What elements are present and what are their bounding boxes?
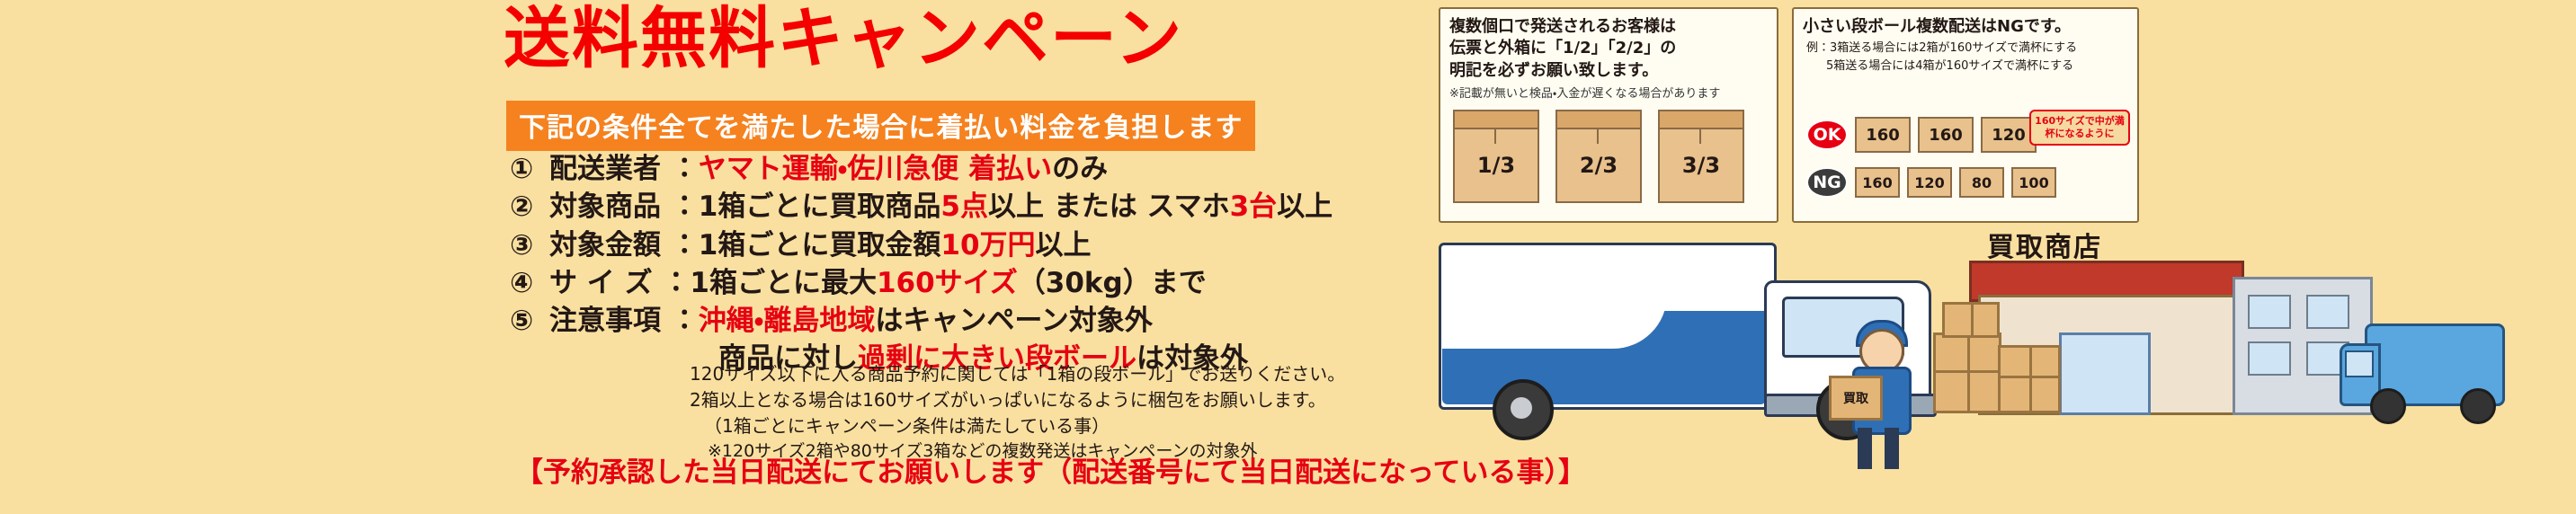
condition-part1-2: 1箱ごとに買取商品 (699, 189, 941, 225)
shop-sign-label: 買取商店 (1987, 225, 2102, 264)
panel-ng-examples: 例：3箱送る場合には2箱が160サイズで満杯にする 5箱送る場合には4箱が160… (1794, 38, 2137, 75)
condition-item-1: ① 配送業者 ： ヤマト運輸・佐川急便 着払い のみ (510, 151, 1333, 187)
size-box: 160 (1918, 117, 1974, 153)
condition-label-4: サ イ ズ ： (549, 265, 690, 301)
cardbox-body: 2/3 (1555, 128, 1642, 203)
condition-item-2: ② 対象商品 ： 1箱ごとに買取商品 5点 以上 または スマホ 3台 以上 (510, 189, 1333, 225)
conditions-list: ① 配送業者 ： ヤマト運輸・佐川急便 着払い のみ ② 対象商品 ： 1箱ごと… (510, 151, 1333, 379)
panel-ng-callout: 160サイズで中が満杯になるように (2029, 110, 2130, 146)
condition-part3-2: 以上 または スマホ (988, 189, 1230, 225)
cardbox-body: 1/3 (1453, 128, 1539, 203)
stacked-box (1998, 376, 2061, 413)
panel-ng-heading: 小さい段ボール複数配送はNGです。 (1794, 9, 2137, 38)
condition-label-3: 対象金額 ： (549, 227, 699, 263)
fineprint-line-2: 2箱以上となる場合は160サイズがいっぱいになるように梱包をお願いします。 (690, 387, 1345, 413)
stacked-box (1942, 302, 2000, 338)
condition-number-4: ④ (510, 265, 549, 301)
van-wheel-icon (2460, 388, 2496, 424)
panel-multiple-parcels: 複数個口で発送されるお客様は 伝票と外箱に「1/2」「2/2」の 明記を必ずお願… (1439, 7, 1778, 223)
cardbox-flap (1453, 110, 1539, 129)
truck-wheel-icon (1493, 379, 1554, 440)
condition-item-4: ④ サ イ ズ ： 1箱ごとに最大 160サイズ （30kg）まで (510, 265, 1333, 301)
shop-door (2059, 332, 2151, 415)
condition-item-3: ③ 対象金額 ： 1箱ごとに買取金額 10万円 以上 (510, 227, 1333, 263)
condition-part1-5: 沖縄・離島地域 (699, 303, 876, 339)
panel-ng-ok-row: OK 160 160 120 (1806, 117, 2037, 153)
cardbox-icon: 2/3 (1555, 110, 1642, 203)
condition-label-1: 配送業者 ： (549, 151, 699, 187)
condition-part3-3: 以上 (1036, 227, 1092, 263)
panel-ng-ng-row: NG 160 120 80 100 (1806, 167, 2056, 198)
panel-multi-line-3: 明記を必ずお願い致します。 (1449, 60, 1768, 82)
condition-label-2: 対象商品 ： (549, 189, 699, 225)
condition-number-2: ② (510, 189, 549, 225)
truck-stripe-curve (1442, 295, 1667, 349)
panel-multi-box-row: 1/3 2/3 3/3 (1453, 110, 1744, 203)
van-window (2345, 350, 2374, 377)
subtitle-bar: 下記の条件全てを満たした場合に着払い料金を負担します (506, 101, 1255, 151)
condition-number-1: ① (510, 151, 549, 187)
condition-number-5: ⑤ (510, 303, 549, 339)
size-box: 160 (1855, 117, 1911, 153)
cardbox-body: 3/3 (1658, 128, 1744, 203)
stacked-box (1933, 370, 2001, 413)
shop-window (2248, 341, 2291, 376)
size-box: 120 (1981, 117, 2037, 153)
bottom-notice: 【予約承認した当日配送にてお願いします（配送番号にて当日配送になっている事）】 (515, 449, 1586, 490)
condition-value-black-1: のみ (1052, 151, 1108, 187)
shop-window (2306, 295, 2349, 329)
panel-ng-small-boxes: 小さい段ボール複数配送はNGです。 例：3箱送る場合には2箱が160サイズで満杯… (1792, 7, 2139, 223)
panel-ng-example-2: 5箱送る場合には4箱が160サイズで満杯にする (1806, 58, 2128, 75)
cardbox-icon: 1/3 (1453, 110, 1539, 203)
condition-item-5: ⑤ 注意事項 ： 沖縄・離島地域 はキャンペーン対象外 (510, 303, 1333, 339)
cardbox-icon: 3/3 (1658, 110, 1744, 203)
stacked-box (1933, 332, 2001, 376)
size-box: 120 (1907, 167, 1952, 198)
ok-badge-icon: OK (1806, 120, 1848, 150)
van-wheel-icon (2370, 388, 2406, 424)
panel-multi-line-1: 複数個口で発送されるお客様は (1449, 16, 1768, 38)
panel-ng-example-1: 例：3箱送る場合には2箱が160サイズで満杯にする (1806, 40, 2128, 58)
worker-carried-box: 買取 (1829, 376, 1883, 421)
cardbox-seam (1494, 128, 1496, 144)
condition-part2-4: 160サイズ (877, 265, 1018, 301)
condition-part1-3: 1箱ごとに買取金額 (699, 227, 941, 263)
fineprint-line-1: 120サイズ以下に入る商品予約に関しては「1箱の段ボール」でお送りください。 (690, 361, 1345, 387)
banner-root: 送料無料キャンペーン 下記の条件全てを満たした場合に着払い料金を負担します ① … (0, 0, 2576, 514)
cardbox-label: 3/3 (1682, 153, 1720, 178)
worker-leg (1885, 428, 1899, 469)
cardbox-label: 1/3 (1477, 153, 1515, 178)
cardbox-flap (1555, 110, 1642, 129)
cardbox-label: 2/3 (1580, 153, 1618, 178)
condition-number-3: ③ (510, 227, 549, 263)
panel-multi-heading: 複数個口で発送されるお客様は 伝票と外箱に「1/2」「2/2」の 明記を必ずお願… (1440, 9, 1777, 82)
condition-part2-3: 10万円 (940, 227, 1035, 263)
condition-part3-4: （30kg）まで (1018, 265, 1207, 301)
fineprint-line-3: （1箱ごとにキャンペーン条件は満たしている事） (690, 413, 1345, 439)
page-title: 送料無料キャンペーン (504, 4, 1183, 75)
panel-multi-note: ※記載が無いと検品・入金が遅くなる場合があります (1440, 82, 1777, 101)
ng-badge-icon: NG (1806, 167, 1848, 198)
cardbox-seam (1699, 128, 1701, 144)
size-box: 80 (1959, 167, 2004, 198)
condition-value-red-1: ヤマト運輸・佐川急便 着払い (699, 151, 1052, 187)
size-box: 160 (1855, 167, 1900, 198)
panel-ng-heading-text: 小さい段ボール複数配送はNGです。 (1803, 16, 2128, 38)
condition-part1-4: 1箱ごとに最大 (690, 265, 877, 301)
condition-part4-2: 3台 (1230, 189, 1278, 225)
panel-multi-line-2: 伝票と外箱に「1/2」「2/2」の (1449, 38, 1768, 59)
condition-part2-2: 5点 (940, 189, 988, 225)
size-box: 100 (2011, 167, 2056, 198)
shop-window (2248, 295, 2291, 329)
cardbox-flap (1658, 110, 1744, 129)
condition-label-5: 注意事項 ： (549, 303, 699, 339)
worker-leg (1858, 428, 1872, 469)
condition-part2-5: はキャンペーン対象外 (875, 303, 1152, 339)
cardbox-seam (1597, 128, 1599, 144)
illustration-area: 買取商店 買取 (1430, 225, 2572, 512)
condition-part5-2: 以上 (1277, 189, 1333, 225)
